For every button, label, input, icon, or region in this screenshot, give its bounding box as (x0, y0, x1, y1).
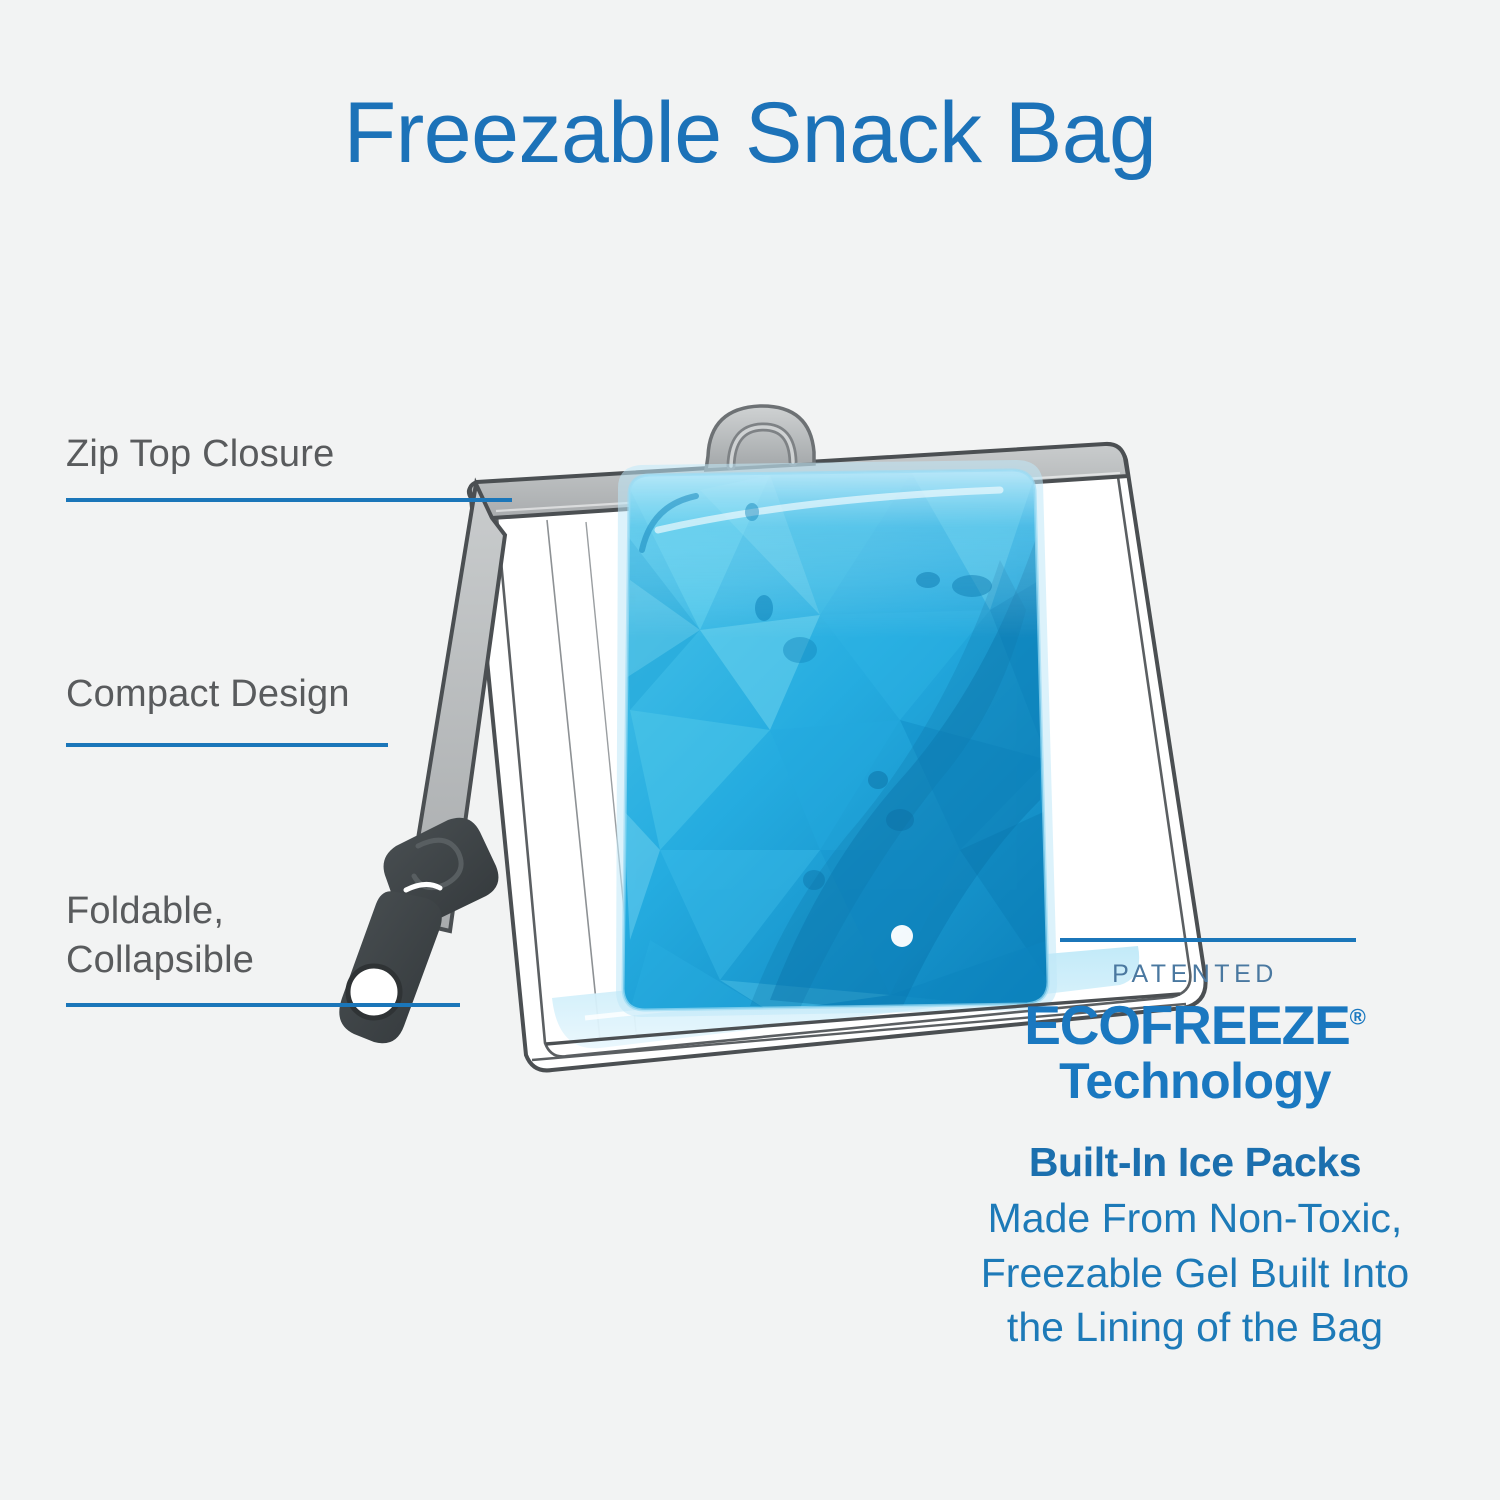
callout-compact-design: Compact Design (66, 670, 350, 719)
callout-rule-compact-design (66, 743, 388, 747)
ice-packs-body: Made From Non-Toxic, Freezable Gel Built… (950, 1191, 1440, 1355)
ecofreeze-brand-block: PATENTED ECOFREEZE® Technology (950, 960, 1440, 1109)
ecofreeze-name: ECOFREEZE (1024, 994, 1349, 1056)
infographic-canvas: Freezable Snack Bag (0, 0, 1500, 1500)
gel-ice-pack (616, 460, 1057, 1017)
technology-label: Technology (950, 1053, 1440, 1109)
zipper-pull[interactable] (339, 818, 498, 1044)
callout-label-compact-design: Compact Design (66, 670, 350, 719)
ice-packs-block: Built-In Ice Packs Made From Non-Toxic, … (950, 1138, 1440, 1355)
callout-foldable-collapsible: Foldable, Collapsible (66, 887, 254, 984)
callout-label-zip-top-closure: Zip Top Closure (66, 430, 334, 479)
hang-loop-icon (706, 406, 814, 470)
callout-zip-top-closure: Zip Top Closure (66, 430, 334, 479)
patented-eyebrow: PATENTED (950, 960, 1440, 989)
registered-mark-icon: ® (1350, 1005, 1366, 1030)
callout-rule-ecofreeze (1060, 938, 1356, 942)
ecofreeze-wordmark: ECOFREEZE® (950, 998, 1440, 1053)
page-title: Freezable Snack Bag (0, 88, 1500, 178)
callout-rule-foldable-collapsible (66, 1003, 460, 1007)
ice-packs-heading: Built-In Ice Packs (950, 1138, 1440, 1187)
callout-label-foldable-collapsible: Foldable, Collapsible (66, 887, 254, 984)
callout-rule-zip-top-closure (66, 498, 512, 502)
